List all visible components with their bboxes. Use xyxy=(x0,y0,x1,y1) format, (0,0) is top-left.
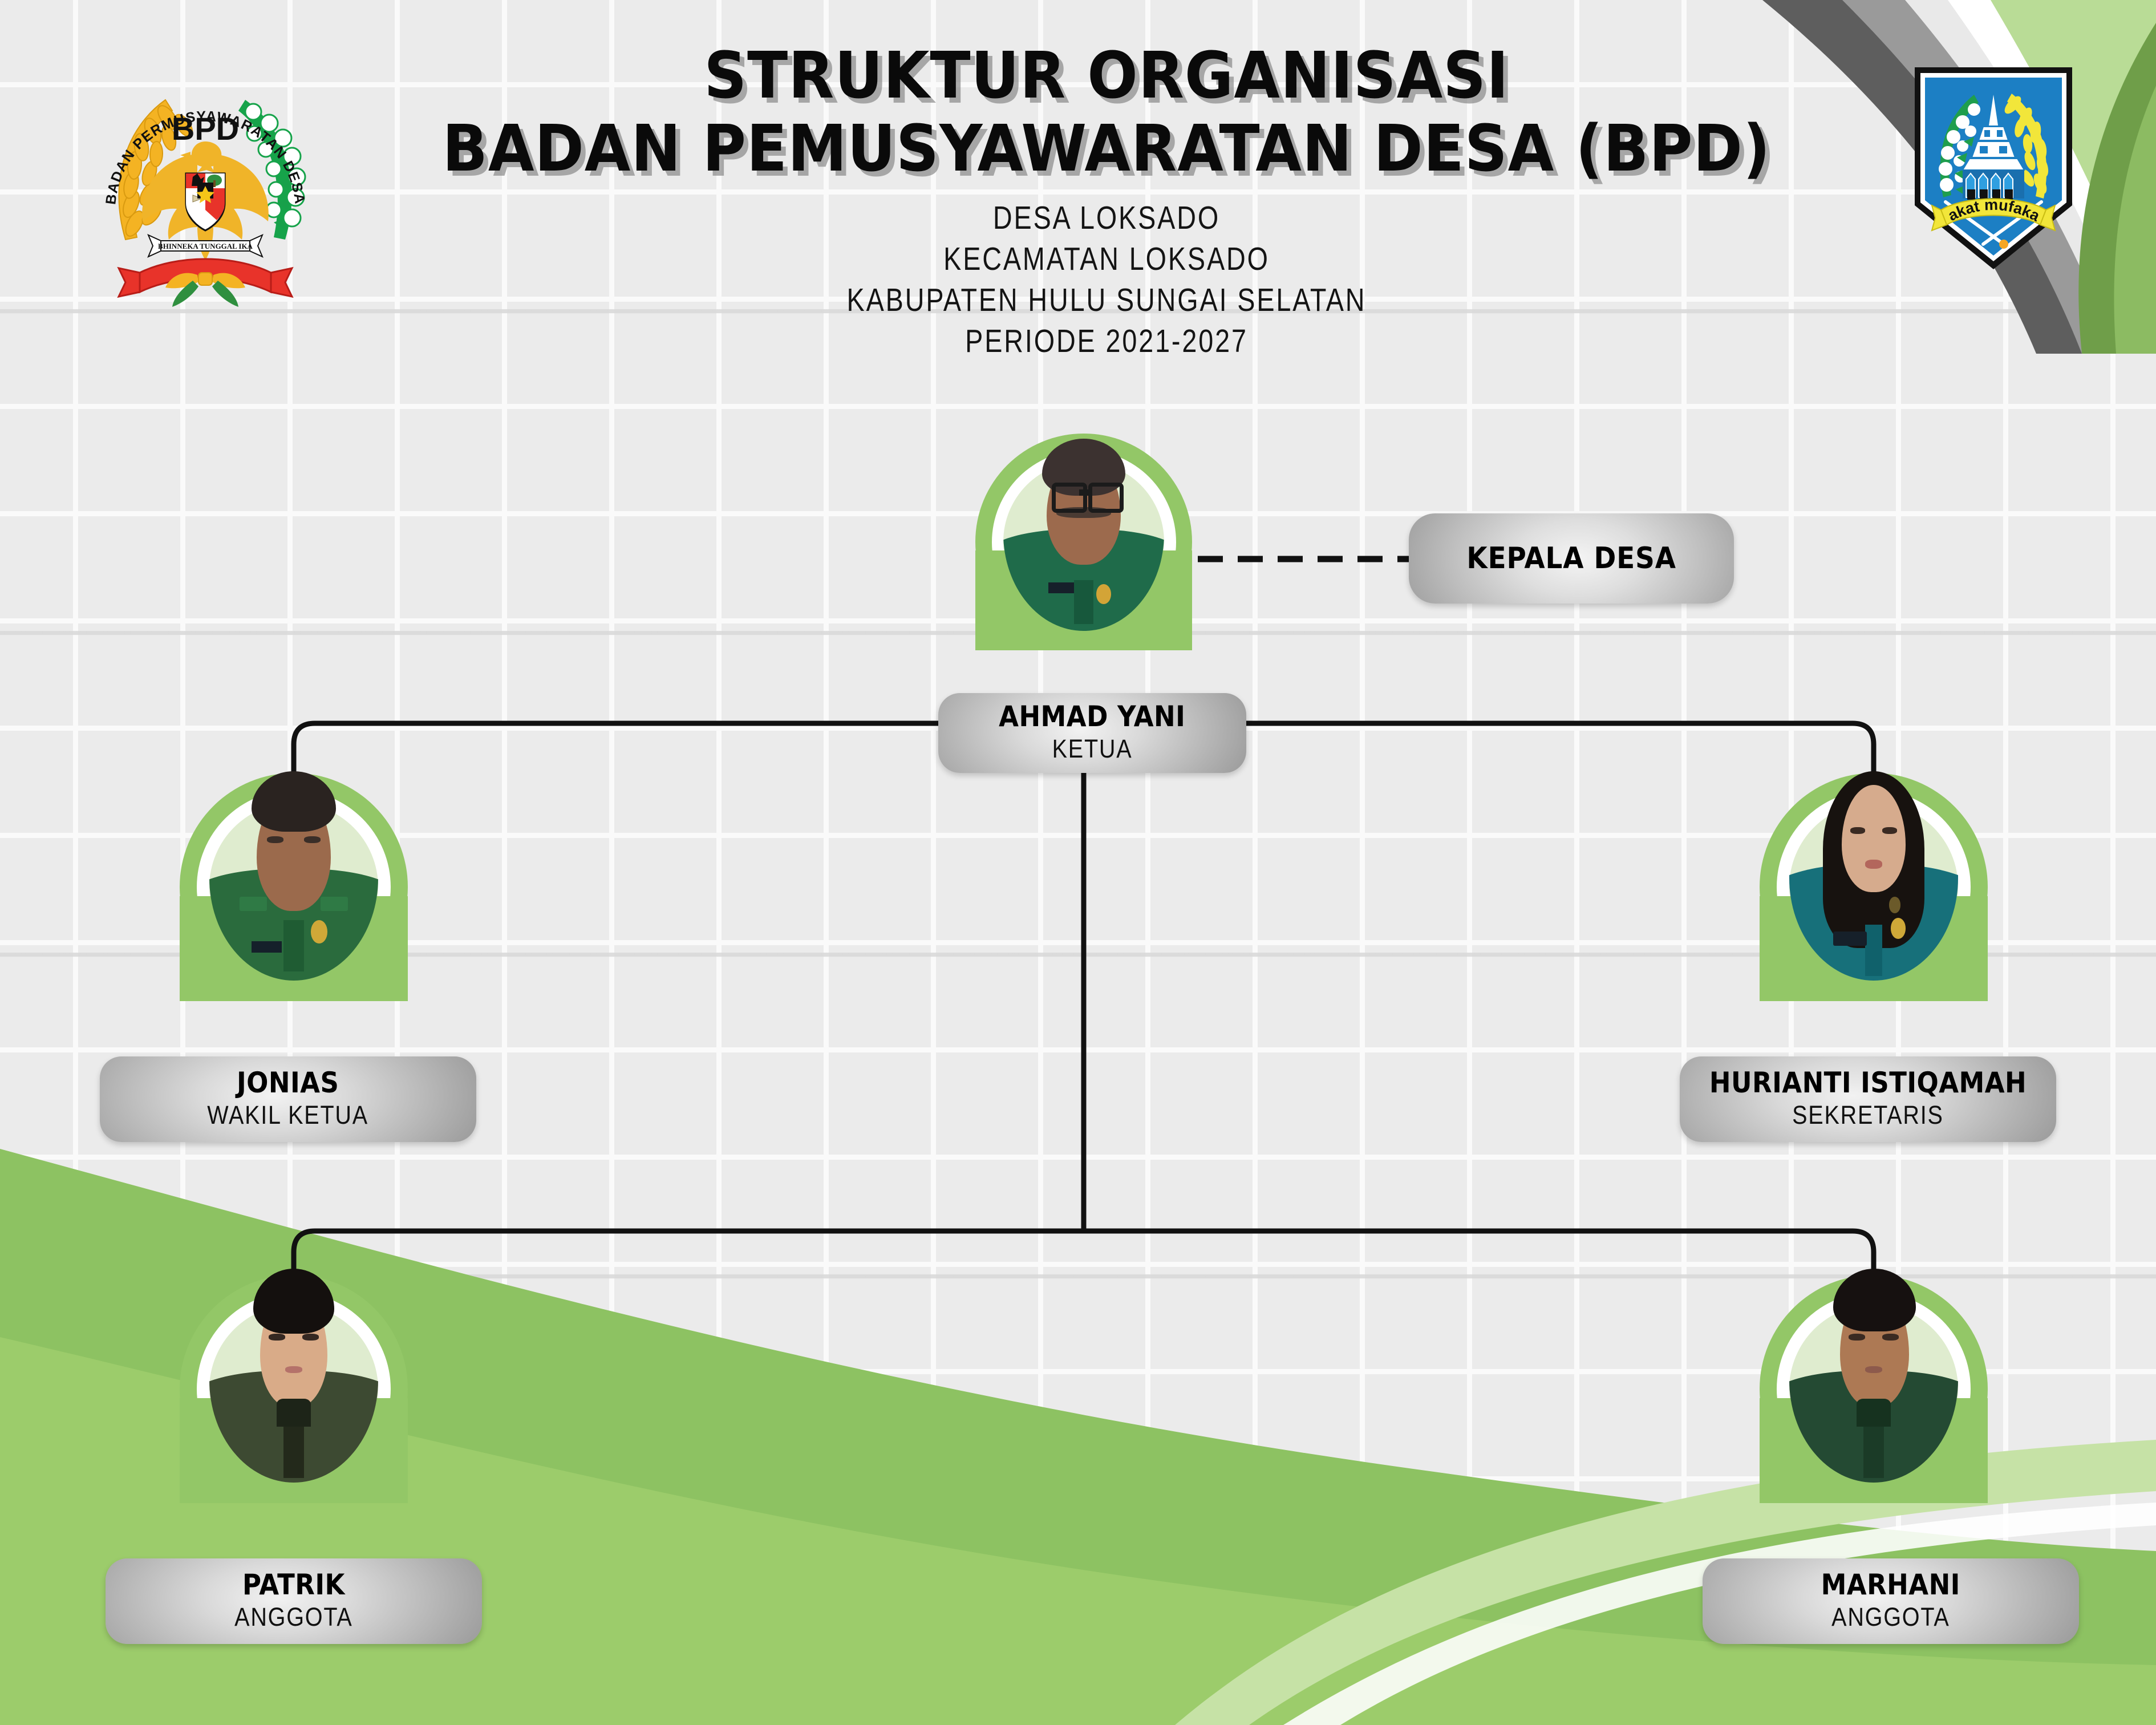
badge-kepala-desa[interactable]: KEPALA DESA xyxy=(1409,513,1734,604)
badge-label: KEPALA DESA xyxy=(1466,541,1676,576)
node-role: ANGGOTA xyxy=(234,1602,352,1632)
photo-hurianti-istiqamah xyxy=(1760,773,1988,1001)
node-role: WAKIL KETUA xyxy=(208,1100,369,1130)
connector-level3-bar xyxy=(294,1231,1874,1386)
nameplate-wakil-ketua[interactable]: JONIAS WAKIL KETUA xyxy=(100,1056,476,1142)
nameplate-anggota-marhani[interactable]: MARHANI ANGGOTA xyxy=(1703,1558,2079,1644)
node-role: SEKRETARIS xyxy=(1792,1100,1944,1130)
nameplate-anggota-patrik[interactable]: PATRIK ANGGOTA xyxy=(106,1558,482,1644)
node-name: PATRIK xyxy=(242,1570,345,1600)
node-name: JONIAS xyxy=(237,1068,339,1098)
photo-patrik xyxy=(180,1275,408,1503)
node-role: ANGGOTA xyxy=(1831,1602,1950,1632)
node-role: KETUA xyxy=(1052,734,1133,764)
photo-ahmad-yani xyxy=(975,434,1192,650)
nameplate-sekretaris[interactable]: HURIANTI ISTIQAMAH SEKRETARIS xyxy=(1680,1056,2056,1142)
photo-marhani xyxy=(1760,1275,1988,1503)
photo-jonias xyxy=(180,773,408,1001)
nameplate-ketua[interactable]: AHMAD YANI KETUA xyxy=(938,693,1246,773)
node-name: AHMAD YANI xyxy=(999,702,1185,731)
node-name: MARHANI xyxy=(1821,1570,1960,1600)
node-name: HURIANTI ISTIQAMAH xyxy=(1709,1068,2027,1098)
